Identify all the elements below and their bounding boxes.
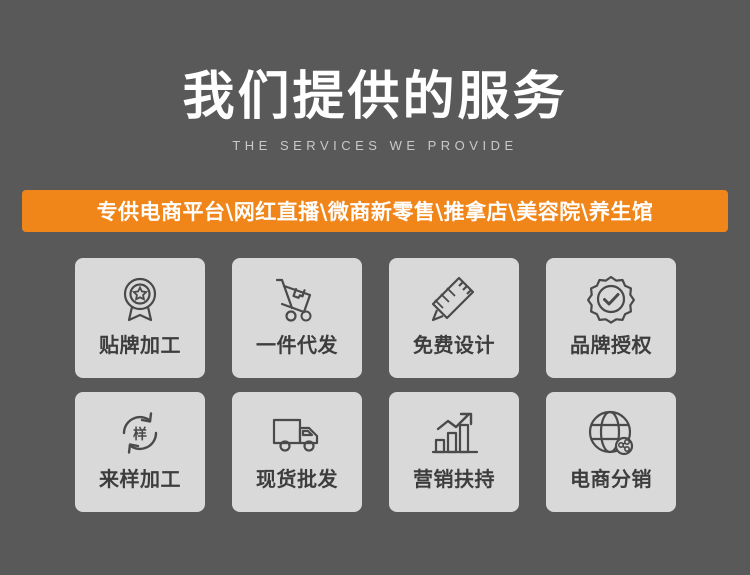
badge-ribbon-icon xyxy=(111,272,169,326)
check-seal-icon xyxy=(582,272,640,326)
ruler-pencil-icon xyxy=(425,272,483,326)
service-card[interactable]: 免费设计 xyxy=(389,258,519,378)
service-label: 一件代发 xyxy=(256,332,338,358)
service-card[interactable]: 样 来样加工 xyxy=(75,392,205,512)
service-label: 贴牌加工 xyxy=(99,332,181,358)
page-title: 我们提供的服务 xyxy=(0,66,750,128)
services-grid: 贴牌加工 一件代发 xyxy=(75,258,675,512)
growth-bar-chart-icon xyxy=(425,406,483,460)
service-card[interactable]: 电商分销 xyxy=(546,392,676,512)
hand-truck-box-icon xyxy=(268,272,326,326)
service-label: 营销扶持 xyxy=(413,466,495,492)
service-label: 品牌授权 xyxy=(570,332,652,358)
page-subtitle: THE SERVICES WE PROVIDE xyxy=(0,138,750,153)
channel-banner: 专供电商平台\网红直播\微商新零售\推拿店\美容院\养生馆 xyxy=(22,190,728,232)
service-card[interactable]: 品牌授权 xyxy=(546,258,676,378)
globe-share-icon xyxy=(582,406,640,460)
service-card[interactable]: 贴牌加工 xyxy=(75,258,205,378)
service-card[interactable]: 营销扶持 xyxy=(389,392,519,512)
delivery-truck-icon xyxy=(268,406,326,460)
svg-text:样: 样 xyxy=(133,426,147,443)
channel-banner-text: 专供电商平台\网红直播\微商新零售\推拿店\美容院\养生馆 xyxy=(97,196,654,226)
service-card[interactable]: 一件代发 xyxy=(232,258,362,378)
service-poster: 我们提供的服务 THE SERVICES WE PROVIDE 专供电商平台\网… xyxy=(0,0,750,575)
sample-recycle-icon: 样 xyxy=(111,406,169,460)
service-label: 来样加工 xyxy=(99,466,181,492)
service-label: 现货批发 xyxy=(256,466,338,492)
service-label: 免费设计 xyxy=(413,332,495,358)
service-label: 电商分销 xyxy=(570,466,652,492)
heading-block: 我们提供的服务 THE SERVICES WE PROVIDE xyxy=(0,66,750,153)
service-card[interactable]: 现货批发 xyxy=(232,392,362,512)
